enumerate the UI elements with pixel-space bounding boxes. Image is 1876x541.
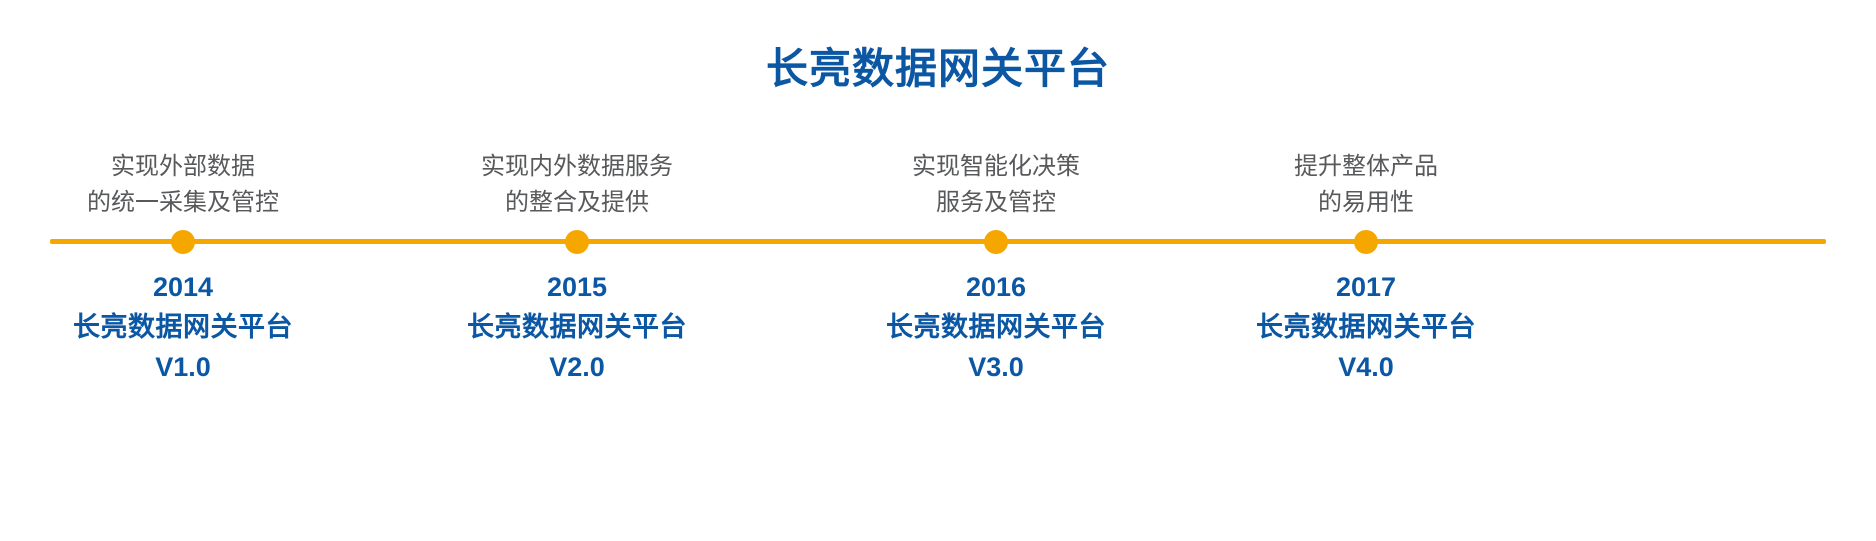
milestone-year: 2017 xyxy=(1201,267,1531,307)
milestone-description: 实现内外数据服务 的整合及提供 xyxy=(412,149,742,221)
milestone-description: 提升整体产品 的易用性 xyxy=(1201,149,1531,221)
milestone-product-name: 长亮数据网关平台 xyxy=(412,307,742,347)
milestone-description-line-2: 的整合及提供 xyxy=(412,185,742,221)
milestone-description-line-2: 的统一采集及管控 xyxy=(18,185,348,221)
milestone-labels: 2015 长亮数据网关平台 V2.0 xyxy=(412,267,742,387)
milestone-dot-icon xyxy=(1354,230,1378,254)
milestone-dot-icon xyxy=(171,230,195,254)
milestone-product-name: 长亮数据网关平台 xyxy=(18,307,348,347)
milestone-labels: 2014 长亮数据网关平台 V1.0 xyxy=(18,267,348,387)
milestone-year: 2016 xyxy=(831,267,1161,307)
milestone-dot-icon xyxy=(984,230,1008,254)
milestone-labels: 2016 长亮数据网关平台 V3.0 xyxy=(831,267,1161,387)
milestone-version: V2.0 xyxy=(412,347,742,387)
timeline-milestone[interactable]: 提升整体产品 的易用性 2017 长亮数据网关平台 V4.0 xyxy=(1201,0,1531,541)
milestone-description-line-2: 的易用性 xyxy=(1201,185,1531,221)
milestone-year: 2014 xyxy=(18,267,348,307)
timeline-milestones: 实现外部数据 的统一采集及管控 2014 长亮数据网关平台 V1.0 实现内外数… xyxy=(0,0,1876,541)
milestone-description-line-1: 实现智能化决策 xyxy=(831,149,1161,185)
milestone-description-line-1: 实现内外数据服务 xyxy=(412,149,742,185)
milestone-description: 实现智能化决策 服务及管控 xyxy=(831,149,1161,221)
milestone-labels: 2017 长亮数据网关平台 V4.0 xyxy=(1201,267,1531,387)
milestone-year: 2015 xyxy=(412,267,742,307)
timeline-milestone[interactable]: 实现智能化决策 服务及管控 2016 长亮数据网关平台 V3.0 xyxy=(831,0,1161,541)
milestone-version: V3.0 xyxy=(831,347,1161,387)
milestone-version: V4.0 xyxy=(1201,347,1531,387)
milestone-description-line-1: 提升整体产品 xyxy=(1201,149,1531,185)
timeline-milestone[interactable]: 实现外部数据 的统一采集及管控 2014 长亮数据网关平台 V1.0 xyxy=(18,0,348,541)
milestone-description-line-2: 服务及管控 xyxy=(831,185,1161,221)
milestone-dot-icon xyxy=(565,230,589,254)
milestone-product-name: 长亮数据网关平台 xyxy=(1201,307,1531,347)
milestone-product-name: 长亮数据网关平台 xyxy=(831,307,1161,347)
timeline-infographic: 长亮数据网关平台 实现外部数据 的统一采集及管控 2014 长亮数据网关平台 V… xyxy=(0,0,1876,541)
milestone-description: 实现外部数据 的统一采集及管控 xyxy=(18,149,348,221)
milestone-version: V1.0 xyxy=(18,347,348,387)
timeline-milestone[interactable]: 实现内外数据服务 的整合及提供 2015 长亮数据网关平台 V2.0 xyxy=(412,0,742,541)
milestone-description-line-1: 实现外部数据 xyxy=(18,149,348,185)
